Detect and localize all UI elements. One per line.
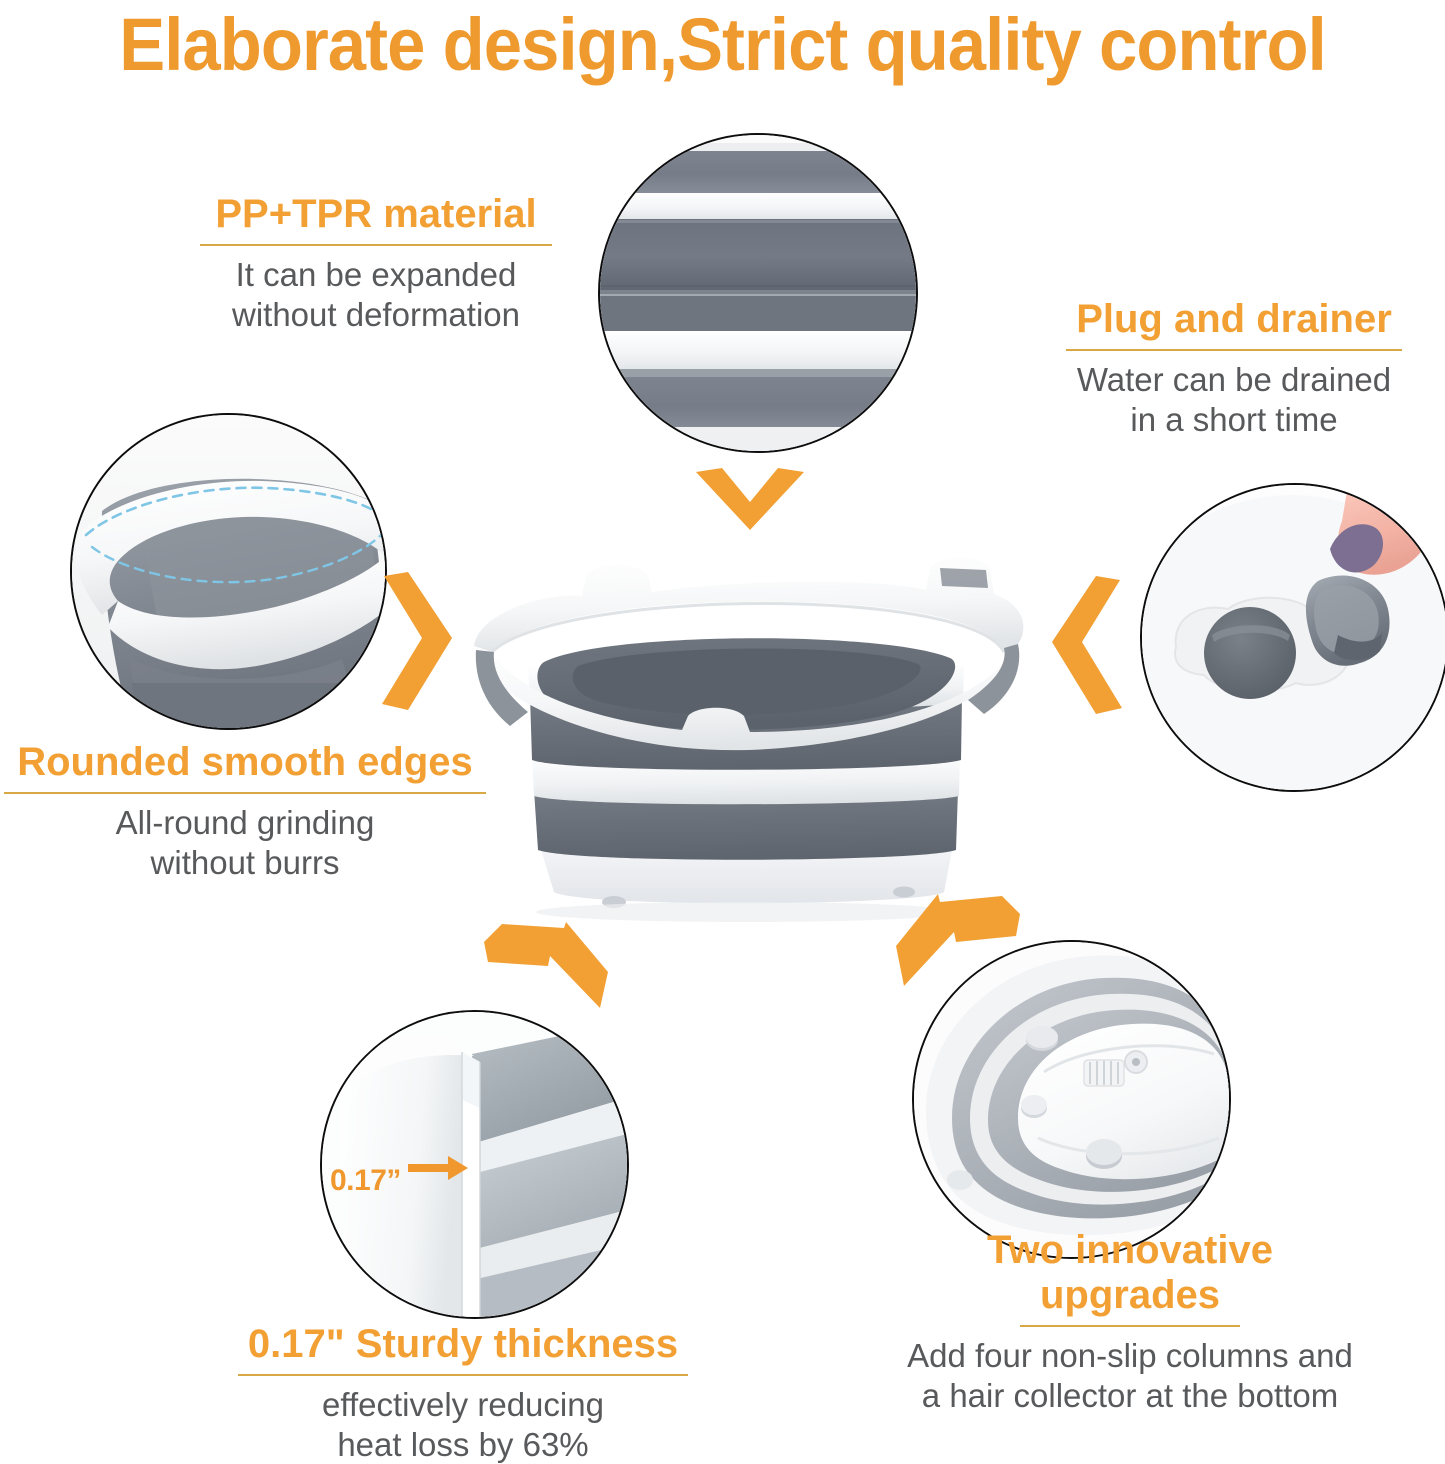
callout-material: PP+TPR material It can be expanded witho… — [166, 192, 586, 335]
bubble-image-material — [598, 133, 918, 453]
callout-thickness-rule — [238, 1374, 688, 1376]
callout-thickness-body-line1: effectively reducing — [228, 1385, 698, 1425]
collapsible-foot-basin-illustration — [452, 540, 1040, 940]
page-title: Elaborate design,Strict quality control — [51, 2, 1395, 87]
callout-upgrades-heading-line1: Two innovative — [900, 1228, 1360, 1273]
chevron-up-right-icon — [478, 908, 614, 1014]
callout-upgrades-heading: Two innovative upgrades — [900, 1228, 1360, 1318]
callout-edges-rule — [4, 792, 486, 794]
callout-thickness-body-line2: heat loss by 63% — [228, 1425, 698, 1464]
callout-plug: Plug and drainer Water can be drained in… — [1034, 297, 1434, 440]
callout-edges-heading: Rounded smooth edges — [0, 740, 490, 785]
bubble-image-thickness: 0.17” — [320, 1010, 629, 1319]
chevron-right-icon — [378, 572, 456, 712]
callout-upgrades: Two innovative upgrades Add four non-sli… — [900, 1228, 1360, 1416]
drain-plug-macro — [1142, 485, 1445, 790]
striped-bellows-macro — [600, 135, 916, 451]
callout-edges-body-line2: without burrs — [0, 843, 490, 883]
callout-edges-body-line1: All-round grinding — [0, 803, 490, 843]
bubble-image-plug — [1140, 483, 1445, 792]
rounded-rim-macro — [72, 415, 385, 728]
infographic-page: Elaborate design,Strict quality control — [0, 0, 1445, 1464]
hair-collector-grille — [1084, 1060, 1124, 1086]
callout-material-body-line1: It can be expanded — [166, 255, 586, 295]
callout-thickness-heading: 0.17" Sturdy thickness — [228, 1322, 698, 1367]
thickness-label: 0.17” — [330, 1164, 401, 1198]
bubble-image-edges — [70, 413, 387, 730]
chevron-down-icon — [692, 466, 808, 532]
callout-plug-body-line1: Water can be drained — [1034, 360, 1434, 400]
chevron-up-left-icon — [890, 884, 1026, 994]
product-image-collapsible-basin — [452, 540, 1040, 940]
callout-thickness: 0.17" Sturdy thickness effectively reduc… — [228, 1322, 698, 1464]
callout-plug-body: Water can be drained in a short time — [1034, 360, 1434, 441]
callout-material-body-line2: without deformation — [166, 295, 586, 335]
callout-material-heading: PP+TPR material — [166, 192, 586, 237]
callout-edges: Rounded smooth edges All-round grinding … — [0, 740, 490, 883]
callout-upgrades-body-line1: Add four non-slip columns and — [900, 1336, 1360, 1376]
callout-upgrades-body-line2: a hair collector at the bottom — [900, 1376, 1360, 1416]
callout-plug-rule — [1066, 349, 1402, 351]
chevron-left-icon — [1048, 576, 1126, 716]
callout-plug-body-line2: in a short time — [1034, 400, 1434, 440]
callout-upgrades-body: Add four non-slip columns and a hair col… — [900, 1336, 1360, 1417]
callout-edges-body: All-round grinding without burrs — [0, 803, 490, 884]
callout-upgrades-heading-line2: upgrades — [900, 1273, 1360, 1318]
callout-thickness-body: effectively reducing heat loss by 63% — [228, 1385, 698, 1464]
callout-material-body: It can be expanded without deformation — [166, 255, 586, 336]
callout-upgrades-rule — [1020, 1325, 1240, 1327]
callout-material-rule — [200, 244, 552, 246]
callout-plug-heading: Plug and drainer — [1034, 297, 1434, 342]
